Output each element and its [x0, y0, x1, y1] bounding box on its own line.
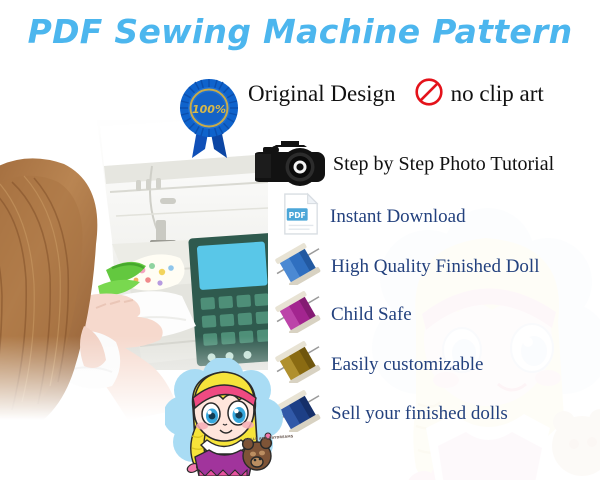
prohibition-icon: [414, 77, 444, 112]
page-title: PDF Sewing Machine Pattern: [0, 12, 600, 51]
pdf-badge-text: PDF: [289, 211, 306, 220]
pdf-file-icon: PDF: [282, 192, 320, 241]
child-safe-label: Child Safe: [331, 304, 412, 326]
feature-row-sell-your-finished-dolls: Sell your finished dolls: [275, 390, 508, 437]
feature-row-child-safe: Child Safe: [275, 291, 412, 338]
high-quality-finished-doll-label: High Quality Finished Doll: [331, 256, 539, 278]
feature-row-original-design: Original Design no clip art: [170, 74, 544, 114]
easily-customizable-label: Easily customizable: [331, 354, 483, 376]
instant-download-label: Instant Download: [330, 206, 466, 228]
no-clip-art-label: no clip art: [451, 81, 544, 107]
feature-row-instant-download: PDF Instant Download: [282, 192, 466, 241]
photo-tutorial-label: Step by Step Photo Tutorial: [333, 153, 554, 176]
feature-row-photo-tutorial: Step by Step Photo Tutorial: [255, 138, 554, 191]
feature-row-high-quality-finished-doll: High Quality Finished Doll: [275, 243, 539, 290]
poster-canvas: PDF Sewing Machine Pattern: [0, 0, 600, 480]
feature-row-easily-customizable: Easily customizable: [275, 341, 483, 388]
camera-icon: [255, 138, 325, 191]
original-design-label: Original Design: [248, 81, 396, 107]
thread-spool-icon: [275, 243, 323, 290]
feature-row-no-clip-art: no clip art: [414, 77, 544, 112]
thread-spool-icon: [275, 291, 323, 338]
doll-girl-teddy-bear-logo: [165, 358, 285, 476]
sell-your-finished-dolls-label: Sell your finished dolls: [331, 403, 508, 425]
